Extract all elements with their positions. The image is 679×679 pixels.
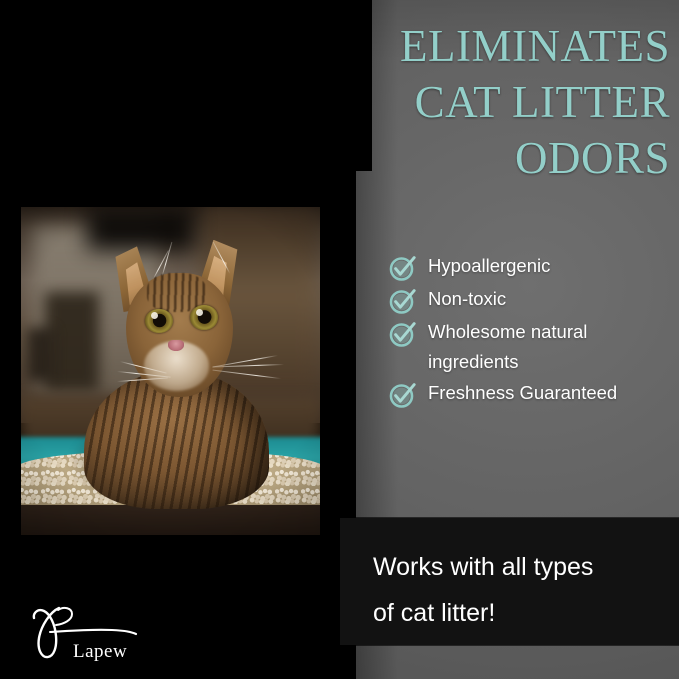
kitten-eye-right-glint xyxy=(196,309,203,316)
list-item-label: Wholesome natural ingredients xyxy=(428,317,587,377)
kitten-nose xyxy=(168,340,184,351)
list-item-label: Freshness Guaranteed xyxy=(428,378,617,408)
photo-scene xyxy=(21,207,320,535)
list-item: Non-toxic xyxy=(388,284,674,316)
list-item-label: Hypoallergenic xyxy=(428,251,550,281)
brand-name: Lapew xyxy=(73,641,127,663)
feature-list: Hypoallergenic Non-toxic Wholesome n xyxy=(388,251,674,411)
check-circle-icon xyxy=(388,253,418,283)
callout-text: Works with all types of cat litter! xyxy=(373,544,663,636)
check-circle-icon xyxy=(388,286,418,316)
kitten-eye-left-glint xyxy=(151,312,158,319)
headline-line-1: ELIMINATES xyxy=(270,18,670,74)
check-circle-icon xyxy=(388,319,418,349)
list-item: Hypoallergenic xyxy=(388,251,674,283)
kitten-litter-box-photo xyxy=(21,207,320,535)
list-item-label: Non-toxic xyxy=(428,284,506,314)
brand-logo: Lapew xyxy=(28,600,168,664)
check-circle-icon xyxy=(388,380,418,410)
advertisement-banner: ELIMINATES CAT LITTER ODORS xyxy=(0,0,679,679)
list-item: Wholesome natural ingredients xyxy=(388,317,674,377)
headline: ELIMINATES CAT LITTER ODORS xyxy=(270,18,670,186)
callout-box: Works with all types of cat litter! xyxy=(340,518,679,645)
background-black-notch xyxy=(341,171,356,519)
list-item: Freshness Guaranteed xyxy=(388,378,674,410)
headline-line-2: CAT LITTER xyxy=(270,74,670,130)
kitten-eye-right xyxy=(190,305,218,330)
headline-line-3: ODORS xyxy=(270,130,670,186)
photo-wall-dark-shape-2 xyxy=(27,328,54,380)
photo-top-shadow xyxy=(87,207,195,250)
